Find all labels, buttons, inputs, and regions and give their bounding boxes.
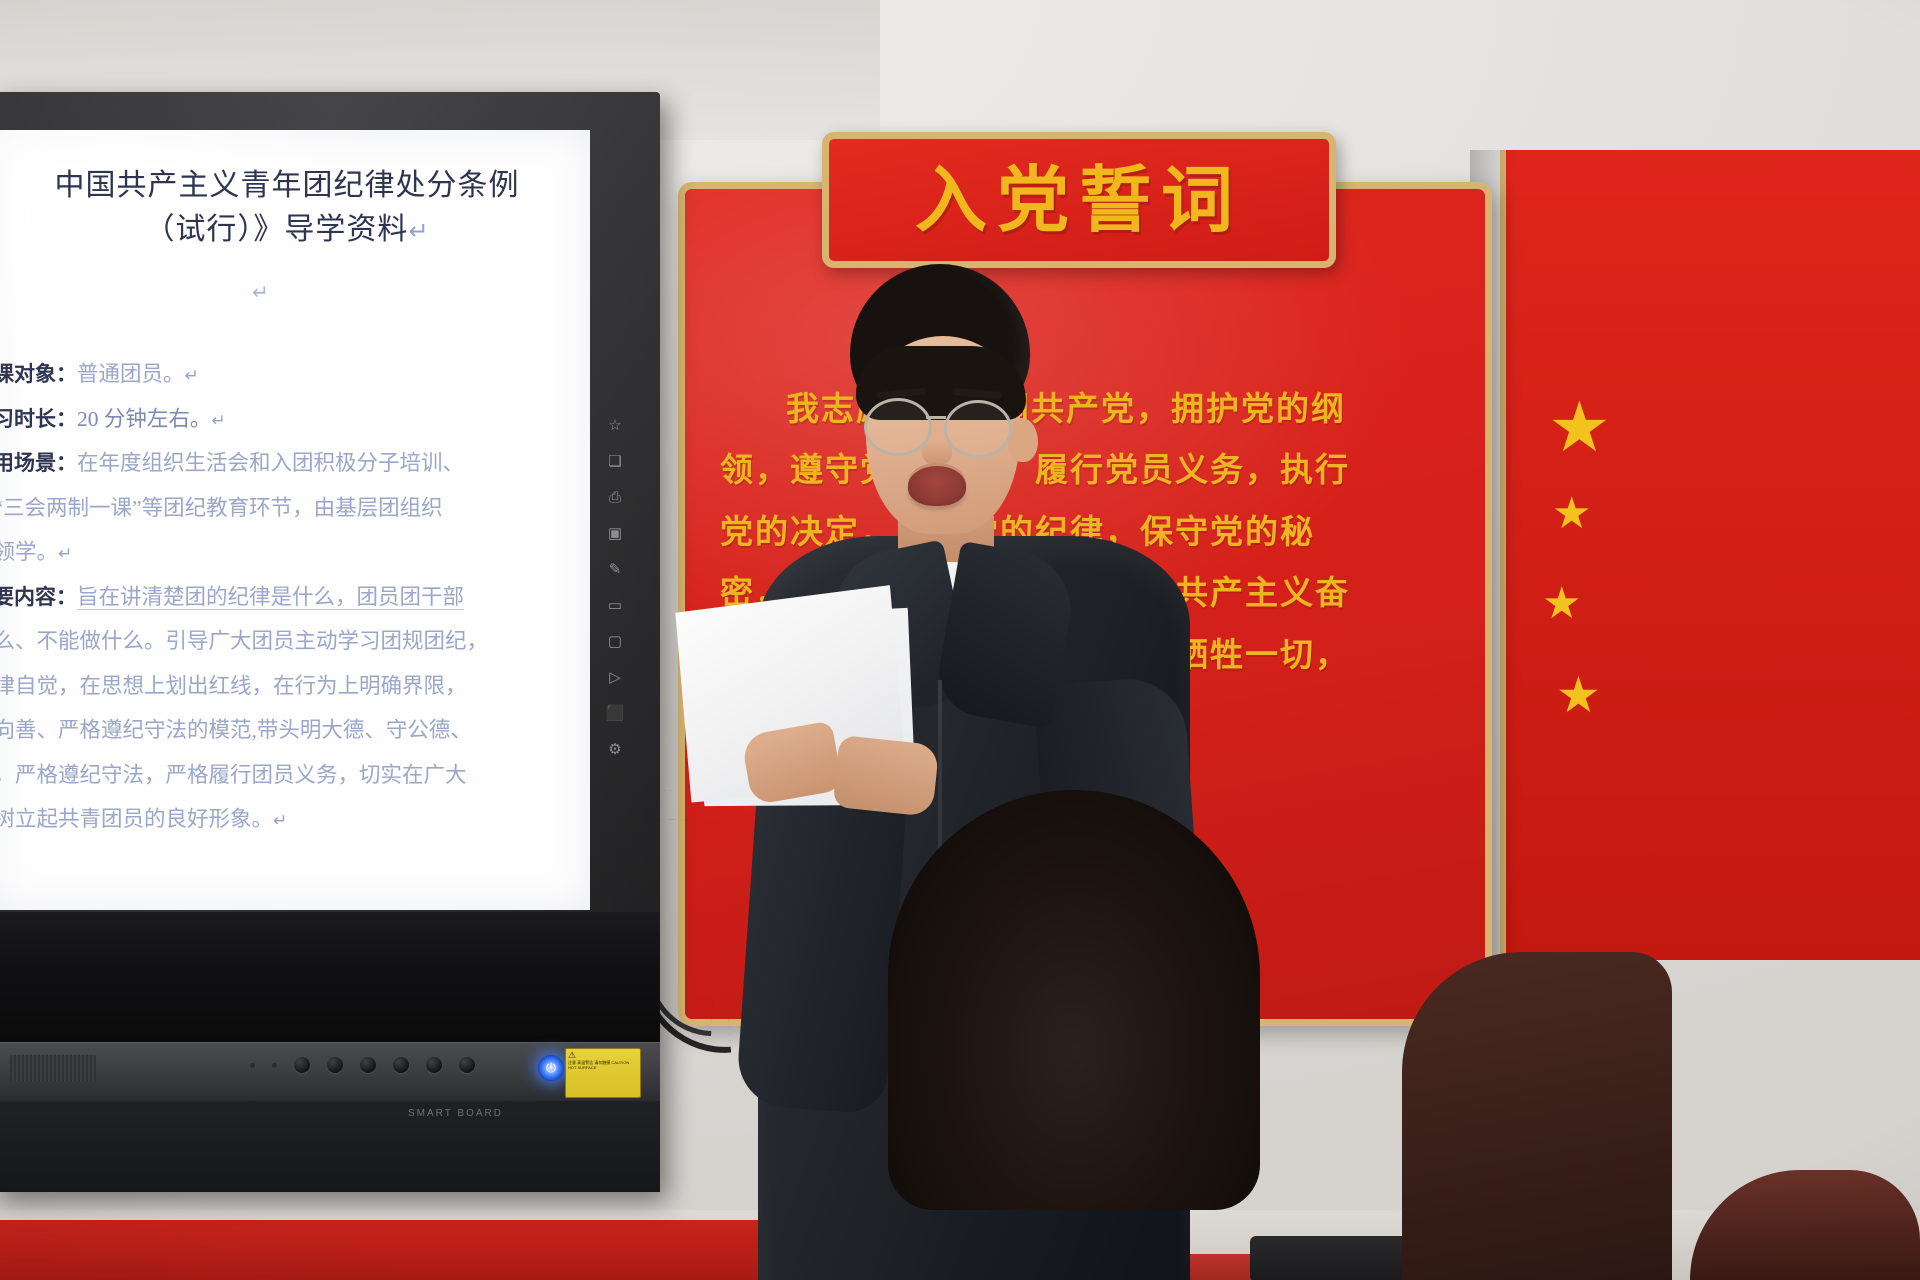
- oath-title-plate: 入党誓词: [822, 132, 1336, 268]
- screenshot-icon[interactable]: ▢: [604, 630, 626, 652]
- favorite-star-icon[interactable]: ☆: [604, 414, 626, 436]
- slide-row-value: 20 分钟左右。: [77, 407, 211, 431]
- slide-row: 中树立起共青团员的良好形象。↵: [0, 797, 590, 842]
- smartboard-screen[interactable]: 中国共产主义青年团纪律处分条例 （试行）》导学资料↵ ↵ 授课对象：普通团员。↵…: [0, 130, 590, 910]
- play-icon[interactable]: ▷: [604, 666, 626, 688]
- slide-row-label: 适用场景：: [0, 452, 77, 475]
- slide-row-value: 普通团员。: [77, 362, 185, 386]
- slide-row: 主要内容：旨在讲清楚团的纪律是什么，团员团干部: [0, 575, 590, 620]
- blank-line-pilcrow-icon: ↵: [252, 280, 269, 305]
- smartboard-base: [0, 1100, 660, 1192]
- hardware-button-1[interactable]: [294, 1057, 310, 1073]
- slide-row-value: 中树立起共青团员的良好形象。: [0, 807, 273, 831]
- slide-row-value: 纪律自觉，在思想上划出红线，在行为上明确界限，: [0, 674, 467, 698]
- slide-title: 中国共产主义青年团纪律处分条例 （试行）》导学资料↵: [0, 164, 590, 251]
- slide-body: 授课对象：普通团员。↵ 学习时长：20 分钟左右。↵ 适用场景：在年度组织生活会…: [0, 352, 590, 842]
- pen-icon[interactable]: ✎: [604, 558, 626, 580]
- audience-head-right: [1402, 952, 1672, 1280]
- pilcrow-icon: ↵: [408, 219, 429, 245]
- annotate-icon[interactable]: ▣: [604, 522, 626, 544]
- audience-head-foreground: [888, 790, 1260, 1280]
- audience-head-hair: [888, 790, 1260, 1210]
- warning-triangle-icon: ⚠: [568, 1051, 638, 1060]
- smartboard-tool-rail[interactable]: ☆ ❏ ⎙ ▣ ✎ ▭ ▢ ▷ ⬛ ⚙: [598, 408, 632, 844]
- slide-row: 德，严格遵纪守法，严格履行团员义务，切实在广大: [0, 753, 590, 798]
- smartboard-control-bar[interactable]: ⏻ ⚠ 注意 高温警告 请勿触摸 CAUTION HOT SURFACE: [0, 1042, 660, 1101]
- hardware-button-5[interactable]: [426, 1057, 442, 1073]
- eyeglass-lens-right: [944, 400, 1012, 458]
- pilcrow-icon: ↵: [273, 811, 287, 830]
- slide-row: 德向善、严格遵纪守法的模范,带头明大德、守公德、: [0, 708, 590, 753]
- blackscreen-icon[interactable]: ⬛: [604, 702, 626, 724]
- slide-row-value: 什么、不能做什么。引导广大团员主动学习团规团纪，: [0, 629, 488, 653]
- slide-row-value: 人领学。: [0, 540, 58, 564]
- hardware-button-2[interactable]: [327, 1057, 343, 1073]
- pilcrow-icon: ↵: [211, 411, 225, 430]
- slide-row-value: 旨在讲清楚团的纪律是什么，团员团干部: [77, 585, 464, 610]
- presenter-mouth: [908, 466, 966, 506]
- speaker-grille: [10, 1055, 96, 1081]
- print-icon[interactable]: ⎙: [604, 486, 626, 508]
- slide-row-value: 德，严格遵纪守法，严格履行团员义务，切实在广大: [0, 763, 467, 787]
- slide-row: 人领学。↵: [0, 530, 590, 575]
- flag-star-3: ★: [1542, 582, 1581, 626]
- indicator-dot-2: [272, 1063, 277, 1068]
- whiteboard-icon[interactable]: ▭: [604, 594, 626, 616]
- eyeglasses-icon: [858, 398, 1038, 450]
- slide-row-label: 主要内容：: [0, 586, 77, 609]
- classroom-photo-scene: ★ ★ ★ ★ 入党誓词 我志愿加入中国共产党，拥护党的纲 领，遵守党的章程，履…: [0, 0, 1920, 1280]
- power-button-icon[interactable]: ⏻: [538, 1055, 564, 1081]
- hardware-button-3[interactable]: [360, 1057, 376, 1073]
- settings-gear-icon[interactable]: ⚙: [604, 738, 626, 760]
- slide-title-line2: （试行）》导学资料↵: [0, 208, 590, 252]
- eyeglass-bridge: [926, 416, 946, 419]
- audience-shoulder: [1402, 952, 1672, 1280]
- warning-label-text: 注意 高温警告 请勿触摸 CAUTION HOT SURFACE: [568, 1060, 629, 1070]
- slide-row: 学习时长：20 分钟左右。↵: [0, 397, 590, 442]
- slide-row-value: 部“三会两制一课”等团纪教育环节，由基层团组织: [0, 496, 443, 520]
- slide-row-value: 德向善、严格遵纪守法的模范,带头明大德、守公德、: [0, 718, 472, 742]
- slide-row: 授课对象：普通团员。↵: [0, 352, 590, 397]
- presentation-slide: 中国共产主义青年团纪律处分条例 （试行）》导学资料↵ ↵ 授课对象：普通团员。↵…: [0, 130, 590, 910]
- slide-row: 部“三会两制一课”等团纪教育环节，由基层团组织: [0, 486, 590, 531]
- slide-row: 纪律自觉，在思想上划出红线，在行为上明确界限，: [0, 664, 590, 709]
- flag-star-1: ★: [1548, 392, 1611, 462]
- slide-title-line1: 中国共产主义青年团纪律处分条例: [55, 169, 520, 202]
- pilcrow-icon: ↵: [58, 544, 72, 563]
- pilcrow-icon: ↵: [185, 366, 199, 385]
- slide-row-label: 授课对象：: [0, 363, 77, 386]
- flag-star-2: ★: [1552, 492, 1591, 536]
- indicator-dot-1: [250, 1063, 255, 1068]
- hardware-button-4[interactable]: [393, 1057, 409, 1073]
- hardware-button-6[interactable]: [459, 1057, 475, 1073]
- flag-panel: [1500, 150, 1920, 960]
- oath-title: 入党誓词: [915, 164, 1243, 236]
- flag-star-4: ★: [1556, 670, 1601, 720]
- slide-row-label: 学习时长：: [0, 408, 77, 431]
- eyeglass-lens-left: [864, 398, 932, 456]
- smartboard-brand-label: SMART BOARD: [408, 1108, 503, 1119]
- slide-row: 什么、不能做什么。引导广大团员主动学习团规团纪，: [0, 619, 590, 664]
- slide-row: 适用场景：在年度组织生活会和入团积极分子培训、: [0, 441, 590, 486]
- hardware-button-row[interactable]: [250, 1057, 475, 1073]
- warning-label: ⚠ 注意 高温警告 请勿触摸 CAUTION HOT SURFACE: [565, 1048, 641, 1098]
- save-icon[interactable]: ❏: [604, 450, 626, 472]
- smartboard-lower-bezel: [0, 912, 660, 1042]
- slide-row-value: 在年度组织生活会和入团积极分子培训、: [77, 451, 464, 475]
